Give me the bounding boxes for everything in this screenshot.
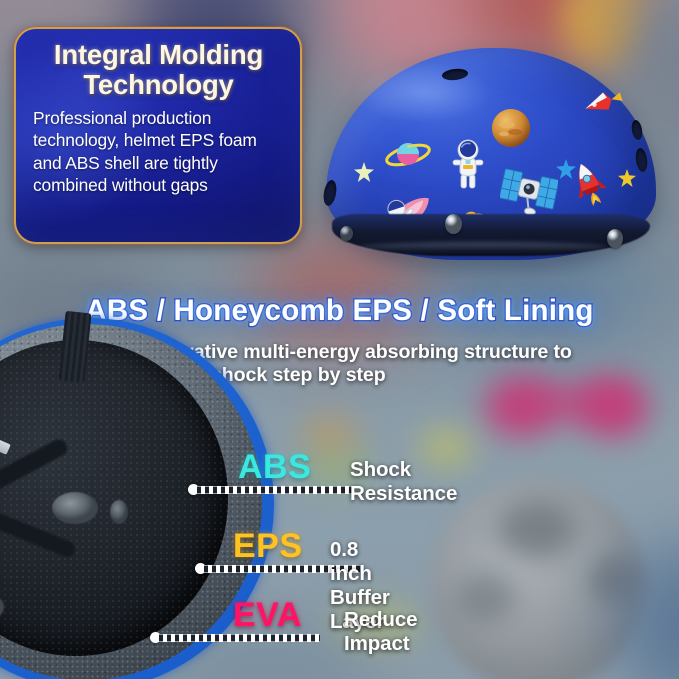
leader-line-eva <box>159 634 320 642</box>
spec-desc-abs: Shock Resistance <box>350 458 457 506</box>
cutaway-pad-4 <box>110 500 128 524</box>
helmet-product-photo <box>318 28 674 268</box>
leader-line-abs <box>197 486 353 494</box>
satellite-sticker <box>500 166 558 218</box>
callout-title: Integral Molding Technology <box>33 40 284 100</box>
helmet-rivet-rear <box>607 229 623 248</box>
astronaut-sticker <box>451 138 485 190</box>
callout-title-line-2: Technology <box>33 70 284 100</box>
saturn-planet-sticker <box>385 138 431 172</box>
spec-desc-eva: Reduce Impact <box>344 608 417 656</box>
star-white-sticker <box>354 162 374 182</box>
product-feature-infographic: Integral Molding Technology Professional… <box>0 0 679 679</box>
shooting-star-sticker <box>582 89 624 115</box>
spec-code-eps: EPS <box>233 527 303 566</box>
spec-code-eva: EVA <box>233 596 302 635</box>
helmet-rivet-front <box>445 214 462 234</box>
helmet-rivet-side <box>340 226 353 241</box>
rocket-red-sticker <box>572 160 610 218</box>
spec-code-abs: ABS <box>238 448 311 487</box>
star-yellow-sticker <box>618 169 636 187</box>
integral-molding-callout: Integral Molding Technology Professional… <box>14 27 302 244</box>
helmet-brim-highlight <box>358 242 608 252</box>
callout-body-text: Professional production technology, helm… <box>33 107 284 197</box>
planet-mars-sticker <box>490 107 532 149</box>
cutaway-pad-2 <box>52 492 98 524</box>
star-blue-sticker <box>556 159 576 179</box>
callout-title-line-1: Integral Molding <box>33 40 284 70</box>
